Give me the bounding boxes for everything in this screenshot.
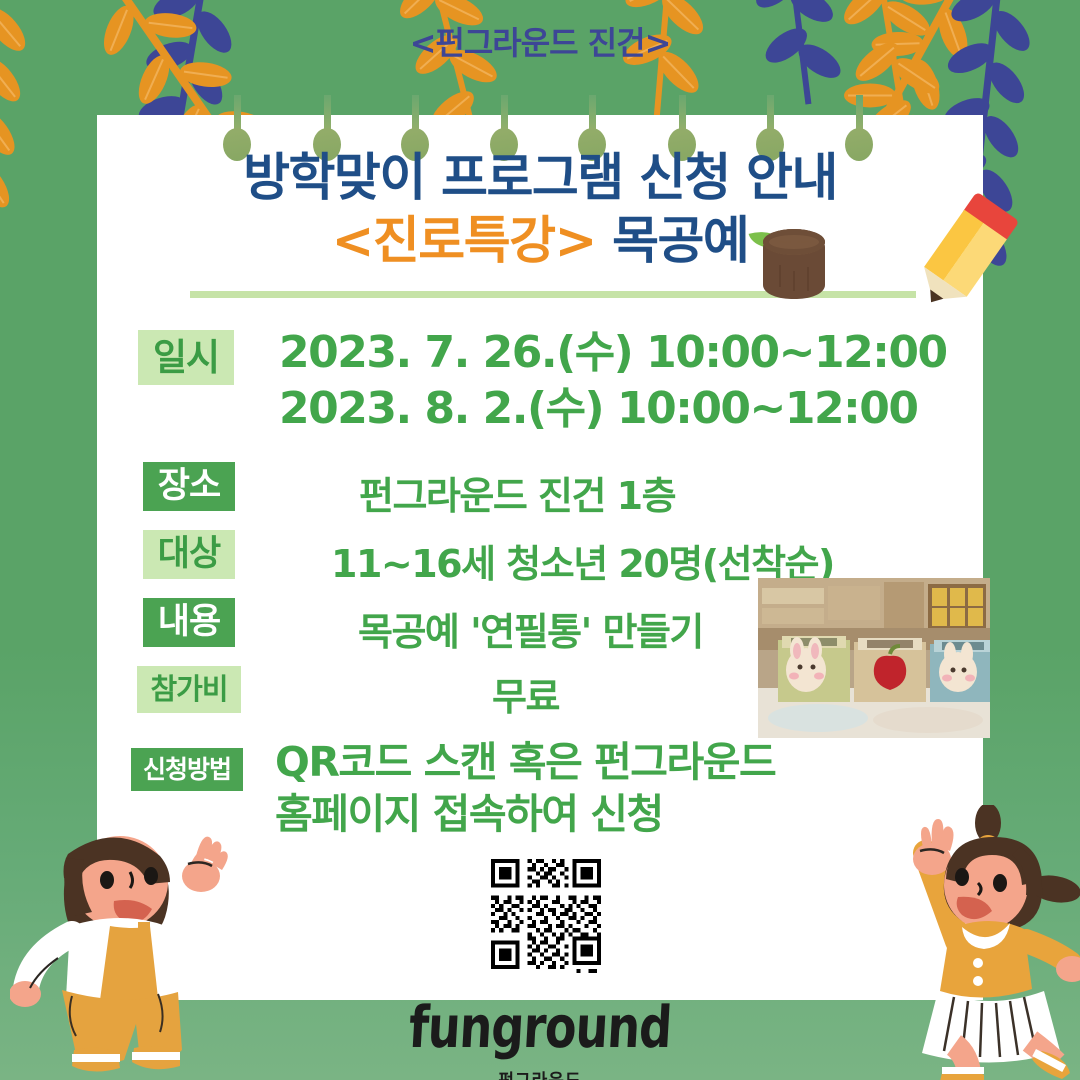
- row-place: 장소 펀그라운드 진건 1층: [143, 462, 235, 511]
- value-place: 펀그라운드 진건 1층: [359, 465, 675, 520]
- qr-code[interactable]: [487, 855, 605, 973]
- title-line1: 방학맞이 프로그램 신청 안내: [97, 150, 983, 209]
- label-place: 장소: [143, 462, 235, 511]
- value-date-2: 2023. 8. 2.(수) 10:00~12:00: [279, 381, 947, 437]
- label-apply: 신청방법: [131, 748, 243, 791]
- label-target: 대상: [143, 530, 235, 579]
- row-fee: 참가비 무료: [137, 666, 241, 713]
- label-date: 일시: [138, 330, 234, 385]
- title-block: 방학맞이 프로그램 신청 안내 <진로특강> 목공예: [97, 150, 983, 271]
- value-apply-1: QR코드 스캔 혹은 펀그라운드: [275, 736, 775, 788]
- header-badge: <펀그라운드 진건>: [410, 24, 671, 62]
- title-line2: <진로특강> 목공예: [97, 213, 983, 272]
- label-fee: 참가비: [137, 666, 241, 713]
- row-content: 내용 목공예 '연필통' 만들기: [143, 598, 235, 647]
- waving-girl-illustration: [880, 805, 1080, 1080]
- waving-boy-illustration: [10, 818, 260, 1080]
- wood-log-icon: [753, 223, 825, 301]
- woodcraft-photo: [758, 578, 990, 738]
- row-date: 일시 2023. 7. 26.(수) 10:00~12:00 2023. 8. …: [138, 330, 234, 385]
- value-date-1: 2023. 7. 26.(수) 10:00~12:00: [279, 325, 947, 381]
- row-apply: 신청방법 QR코드 스캔 혹은 펀그라운드 홈페이지 접속하여 신청: [131, 748, 243, 791]
- value-content: 목공예 '연필통' 만들기: [358, 601, 703, 656]
- title-highlight: <진로특강>: [332, 212, 596, 271]
- title-subject: 목공예: [596, 212, 749, 271]
- row-target: 대상 11~16세 청소년 20명(선착순): [143, 530, 235, 579]
- poster-root: <펀그라운드 진건> 방학맞이 프로그램 신청 안내 <진로특강> 목공예: [0, 0, 1080, 1080]
- logo-wordmark: funground: [407, 993, 673, 1061]
- label-content: 내용: [143, 598, 235, 647]
- value-fee: 무료: [492, 666, 559, 721]
- value-apply-2: 홈페이지 접속하여 신청: [275, 788, 775, 840]
